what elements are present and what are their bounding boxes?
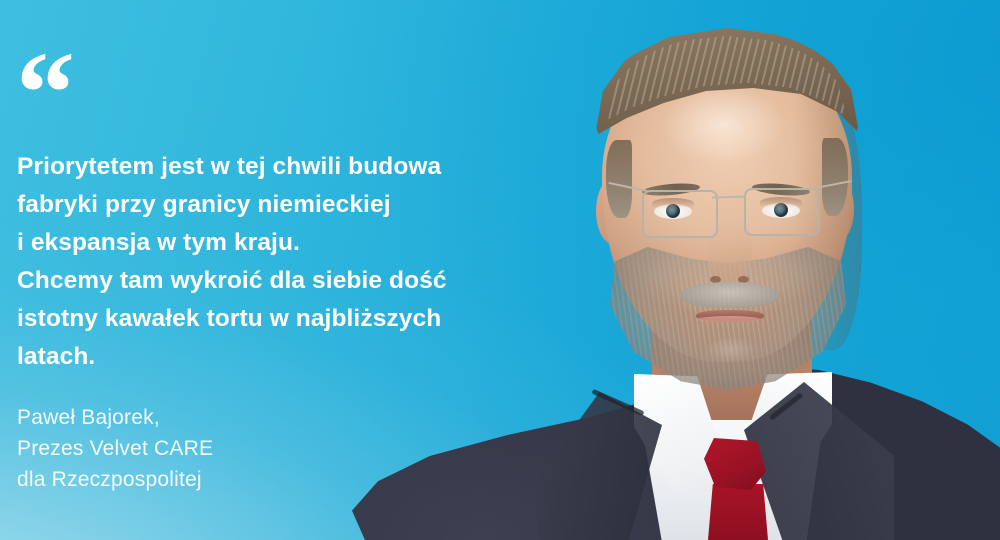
- quote-line: Priorytetem jest w tej chwili budowa: [17, 148, 537, 186]
- quote-line: istotny kawałek tortu w najbliższych: [17, 300, 537, 338]
- sideburn-left: [606, 140, 632, 218]
- quote-card: “ Priorytetem jest w tej chwili budowa f…: [0, 0, 1000, 540]
- quotation-mark-icon: “: [16, 34, 73, 152]
- attribution-role: Prezes Velvet CARE: [17, 433, 447, 464]
- quote-line: Chcemy tam wykroić dla siebie dość: [17, 262, 537, 300]
- quote-line: fabryki przy granicy niemieckiej: [17, 186, 537, 224]
- quote-line: latach.: [17, 338, 537, 376]
- attribution-name: Paweł Bajorek,: [17, 402, 447, 433]
- quote-line: i ekspansja w tym kraju.: [17, 224, 537, 262]
- quote-text: Priorytetem jest w tej chwili budowa fab…: [17, 148, 537, 376]
- mustache: [680, 282, 780, 308]
- chin-highlight: [696, 336, 766, 370]
- attribution: Paweł Bajorek, Prezes Velvet CARE dla Rz…: [17, 402, 447, 495]
- attribution-source: dla Rzeczpospolitej: [17, 464, 447, 495]
- lower-lip: [698, 316, 760, 323]
- eyeglasses-lens-left: [642, 190, 718, 238]
- eyeglasses-lens-right: [744, 188, 820, 236]
- necktie-body: [708, 484, 768, 540]
- sideburn-right: [822, 138, 848, 216]
